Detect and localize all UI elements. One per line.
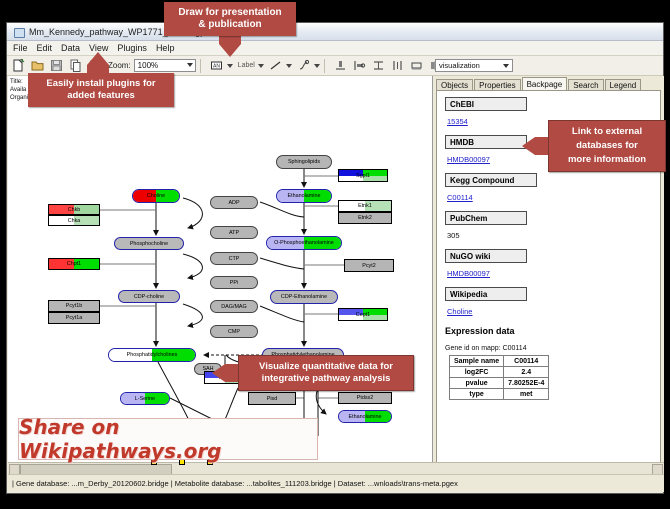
node-label: CMP — [228, 329, 240, 335]
node-fill-right — [365, 411, 391, 422]
node-fill-right — [304, 237, 341, 249]
node-fill-bottom-right — [363, 176, 387, 182]
table-row: Sample name C00114 — [450, 356, 549, 367]
node-phosphocholine[interactable]: Phosphocholine — [114, 237, 184, 250]
node-cdp-choline[interactable]: CDP-choline — [118, 290, 180, 303]
horizontal-scrollbar[interactable] — [8, 462, 664, 474]
node-cept1[interactable]: Cept1 — [338, 308, 388, 321]
node-sphingolipids[interactable]: Sphingolipids — [276, 155, 332, 169]
db-header-nugo: NuGO wiki — [445, 249, 527, 263]
open-folder-icon[interactable] — [30, 58, 45, 73]
node-fill-left — [339, 411, 365, 422]
callout-line-2: integrative pathway analysis — [262, 373, 391, 385]
callout-line-1: Draw for presentation — [178, 7, 281, 19]
toolbar-separator-2 — [324, 59, 325, 73]
callout-line-2: added features — [67, 90, 135, 102]
node-fill-left — [49, 205, 74, 214]
node-chpt1[interactable]: Chpt1 — [48, 258, 100, 270]
app-icon — [13, 26, 25, 38]
share-text: Share on Wikipathways.org — [19, 415, 317, 463]
node-fill-left — [267, 237, 304, 249]
node-ptdss2[interactable]: Ptdss2 — [338, 392, 392, 404]
callout-draw: Draw for presentation & publication — [164, 2, 296, 36]
node-phosphatidylcholines[interactable]: Phosphatidylcholines — [108, 348, 196, 362]
callout-plugins-arrow — [87, 52, 109, 65]
node-fill-left — [49, 216, 74, 225]
node-fill-left — [109, 349, 152, 361]
toolbar-separator — [200, 59, 201, 73]
callout-visualize-arrow — [212, 364, 225, 382]
line-chevron-icon[interactable] — [286, 64, 292, 68]
node-pcyt2[interactable]: Pcyt2 — [344, 259, 394, 272]
node-fill-right — [304, 190, 331, 202]
node-label: CTP — [229, 256, 240, 262]
status-text: | Gene database: ...m_Derby_20120602.bri… — [8, 479, 458, 488]
node-fill-right — [74, 205, 99, 214]
db-header-hmdb: HMDB — [445, 135, 527, 149]
status-bar: | Gene database: ...m_Derby_20120602.bri… — [8, 474, 664, 492]
node-choline-top[interactable]: Choline — [132, 189, 180, 203]
align-left-icon[interactable] — [352, 58, 367, 73]
node-label: Pcyt1a — [66, 315, 82, 321]
callout-line-1: Link to external — [572, 125, 642, 139]
node-fill-left — [339, 201, 365, 211]
copy-icon[interactable] — [68, 58, 83, 73]
db-link-nugo[interactable]: HMDB00097 — [447, 269, 490, 278]
db-link-chebi[interactable]: 15354 — [447, 117, 468, 126]
menu-item-edit[interactable]: Edit — [37, 43, 53, 53]
node-pcyt1b[interactable]: Pcyt1b — [48, 300, 100, 312]
new-file-icon[interactable] — [11, 58, 26, 73]
callout-share: Share on Wikipathways.org — [18, 418, 318, 460]
save-icon[interactable] — [49, 58, 64, 73]
node-ethanolamine-right[interactable]: Ethanolamine — [338, 410, 392, 423]
node-o-phosphoethanolamine[interactable]: O-Phosphoethanolamine — [266, 236, 342, 250]
callout-visualize: Visualize quantitative data for integrat… — [238, 355, 414, 391]
svg-text:AN: AN — [213, 64, 220, 70]
node-label: Pcyt2 — [362, 263, 375, 269]
node-label: ATP — [229, 230, 239, 236]
node-ppi[interactable]: PPi — [210, 276, 258, 289]
datanode-chevron-icon[interactable] — [227, 64, 233, 68]
expr-value: C00114 — [504, 356, 549, 367]
node-fill-left — [133, 190, 156, 202]
line-icon[interactable] — [268, 58, 283, 73]
visualization-combo-value: visualization — [439, 61, 480, 70]
node-chka[interactable]: Chka — [48, 215, 100, 226]
side-panel-tabs: Objects Properties Backpage Search Legen… — [436, 77, 642, 91]
table-row: log2FC 2.4 — [450, 367, 549, 378]
expr-value: met — [504, 389, 549, 400]
db-header-kegg: Kegg Compound — [445, 173, 537, 187]
node-fill-right — [365, 201, 391, 211]
node-label: Ptdss2 — [357, 395, 373, 401]
callout-line-3: more information — [568, 153, 646, 167]
node-ethanolamine[interactable]: Ethanolamine — [276, 189, 332, 203]
db-header-chebi: ChEBI — [445, 97, 527, 111]
menu-item-file[interactable]: File — [13, 43, 28, 53]
node-dag-mag[interactable]: DAG/MAG — [210, 300, 258, 313]
node-cdp-ethanolamine[interactable]: CDP-Ethanolamine — [270, 290, 338, 304]
node-label: Sphingolipids — [288, 159, 320, 165]
node-etnk2[interactable]: Etnk2 — [338, 212, 392, 224]
node-fill-right — [156, 190, 179, 202]
callout-line-1: Visualize quantitative data for — [259, 361, 393, 373]
node-fill-right — [74, 216, 99, 225]
title-bar: Mm_Kennedy_pathway_WP1771_45176.gpml — [7, 23, 663, 41]
node-pisd[interactable]: Pisd — [248, 392, 296, 405]
callout-link-stem — [535, 137, 549, 155]
node-fill-left — [49, 259, 74, 269]
db-header-wikipedia: Wikipedia — [445, 287, 527, 301]
callout-plugins: Easily install plugins for added feature… — [28, 73, 174, 107]
db-value-pubchem: 305 — [447, 231, 460, 240]
zoom-value: 100% — [138, 61, 158, 70]
node-label: CDP-Ethanolamine — [281, 294, 327, 300]
visualization-combo[interactable]: visualization — [435, 59, 513, 72]
callout-link: Link to external databases for more info… — [548, 120, 666, 172]
node-fill-bottom-left — [339, 315, 363, 321]
callout-link-arrow — [522, 137, 535, 155]
menu-item-data[interactable]: Data — [61, 43, 80, 53]
menu-item-plugins[interactable]: Plugins — [117, 43, 147, 53]
node-adp[interactable]: ADP — [210, 196, 258, 209]
node-atp[interactable]: ATP — [210, 226, 258, 239]
interaction-icon[interactable] — [296, 58, 311, 73]
node-fill-right — [145, 393, 169, 404]
tab-backpage[interactable]: Backpage — [522, 77, 568, 91]
node-sgpl1[interactable]: Sgpl1 — [338, 169, 388, 182]
gene-id-on-mapp: Gene id on mapp: C00114 — [445, 345, 660, 352]
node-label: PPi — [230, 280, 238, 286]
align-top-icon[interactable] — [333, 58, 348, 73]
node-label: ADP — [228, 200, 239, 206]
align-rows-icon[interactable] — [371, 58, 386, 73]
node-fill-bottom-right — [363, 315, 387, 321]
callout-draw-stem — [219, 36, 241, 44]
db-header-pubchem: PubChem — [445, 211, 527, 225]
callout-line-2: databases for — [576, 139, 638, 153]
node-l-serine-left[interactable]: L-Serine — [120, 392, 170, 405]
label-combo[interactable]: Label — [238, 59, 264, 72]
node-label: DAG/MAG — [221, 304, 246, 310]
expression-data-heading: Expression data — [445, 326, 660, 336]
label-chevron-icon[interactable] — [258, 64, 264, 68]
node-fill-bottom-left — [339, 176, 363, 182]
expr-value: 7.80252E-4 — [504, 378, 549, 389]
group-icon[interactable] — [409, 58, 424, 73]
interaction-chevron-icon[interactable] — [314, 64, 320, 68]
node-fill-right — [152, 349, 195, 361]
align-columns-icon[interactable] — [390, 58, 405, 73]
expr-key: type — [450, 389, 504, 400]
node-fill-left — [277, 190, 304, 202]
node-cmp[interactable]: CMP — [210, 325, 258, 338]
expr-key: Sample name — [450, 356, 504, 367]
node-label: Pcyt1b — [66, 303, 82, 309]
callout-plugins-stem — [87, 65, 109, 73]
node-label: Phosphocholine — [130, 241, 168, 247]
datanode-icon[interactable]: AN — [209, 58, 224, 73]
expr-value: 2.4 — [504, 367, 549, 378]
node-fill-right — [74, 259, 99, 269]
zoom-input[interactable]: 100% — [134, 59, 196, 72]
node-ctp[interactable]: CTP — [210, 252, 258, 265]
chevron-down-icon[interactable] — [187, 63, 193, 67]
db-link-kegg[interactable]: C00114 — [447, 193, 473, 202]
db-link-hmdb[interactable]: HMDB00097 — [447, 155, 490, 164]
node-chkb[interactable]: Chkb — [48, 204, 100, 215]
table-row: pvalue 7.80252E-4 — [450, 378, 549, 389]
db-link-wikipedia[interactable]: Choline — [447, 307, 472, 316]
expression-table: Sample name C00114 log2FC 2.4 pvalue 7.8… — [449, 355, 549, 400]
chevron-down-icon[interactable] — [503, 64, 509, 68]
expr-key: pvalue — [450, 378, 504, 389]
node-pcyt1a[interactable]: Pcyt1a — [48, 312, 100, 324]
expr-key: log2FC — [450, 367, 504, 378]
callout-draw-arrow — [219, 44, 241, 57]
callout-line-1: Easily install plugins for — [46, 78, 155, 90]
screenshot-root: Mm_Kennedy_pathway_WP1771_45176.gpml Fil… — [0, 0, 670, 509]
callout-line-2: & publication — [198, 19, 261, 31]
zoom-label: Zoom: — [108, 61, 131, 70]
node-label: Etnk2 — [358, 215, 372, 221]
node-label: CDP-choline — [134, 294, 164, 300]
table-row: type met — [450, 389, 549, 400]
callout-visualize-stem — [225, 364, 239, 382]
node-fill-left — [121, 393, 145, 404]
node-label: Pisd — [267, 396, 278, 402]
node-etnk1[interactable]: Etnk1 — [338, 200, 392, 212]
menu-item-help[interactable]: Help — [156, 43, 175, 53]
